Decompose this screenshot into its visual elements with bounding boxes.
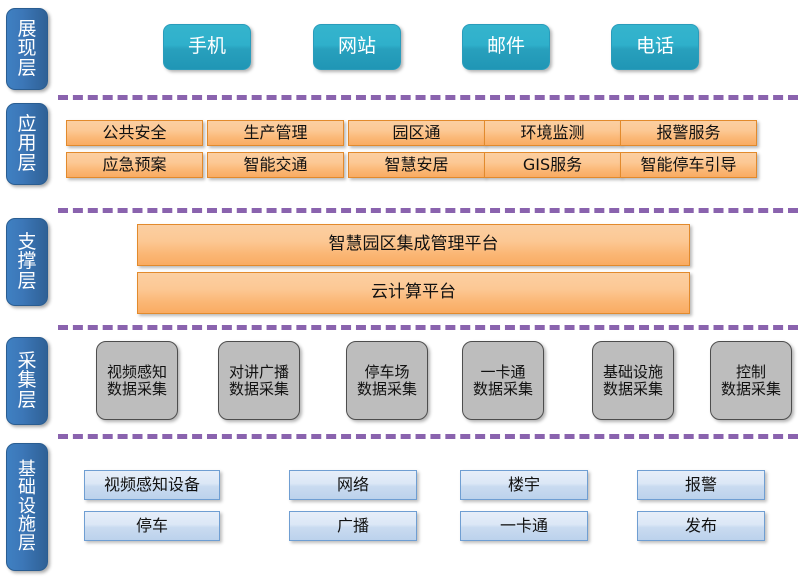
infrastructure-node-all-in-one-card[interactable]: 一卡通 (460, 511, 588, 541)
layer-label-support: 支 撑 层 (6, 218, 48, 306)
infrastructure-node-building[interactable]: 楼宇 (460, 470, 588, 500)
application-node-gis-service[interactable]: GIS服务 (484, 152, 621, 178)
collection-node-line1: 一卡通 (480, 364, 525, 381)
application-node-smart-living[interactable]: 智慧安居 (348, 152, 485, 178)
divider-presentation-application (58, 95, 798, 100)
collection-node-infrastructure[interactable]: 基础设施 数据采集 (592, 341, 674, 420)
collection-node-line2: 数据采集 (357, 381, 417, 398)
infrastructure-node-alarm[interactable]: 报警 (637, 470, 765, 500)
application-node-public-safety[interactable]: 公共安全 (66, 120, 203, 146)
layer-label-collection: 采 集 层 (6, 337, 48, 425)
layer-label-char: 用 (17, 134, 36, 154)
layer-label-char: 础 (18, 479, 36, 498)
application-node-intelligent-transport[interactable]: 智能交通 (207, 152, 344, 178)
infrastructure-node-parking[interactable]: 停车 (84, 511, 220, 541)
application-node-environment-monitoring[interactable]: 环境监测 (484, 120, 621, 146)
collection-node-all-in-one-card[interactable]: 一卡通 数据采集 (462, 341, 544, 420)
layer-label-char: 集 (17, 371, 36, 391)
collection-node-line2: 数据采集 (229, 381, 289, 398)
application-node-smart-parking-guidance[interactable]: 智能停车引导 (620, 152, 757, 178)
divider-support-collection (58, 325, 798, 330)
layer-label-char: 层 (17, 391, 36, 411)
collection-node-control[interactable]: 控制 数据采集 (710, 341, 792, 420)
architecture-diagram: 展 现 层 应 用 层 支 撑 层 采 集 层 基 础 设 施 层 手机 网站 … (0, 0, 800, 582)
presentation-node-mobile[interactable]: 手机 (163, 24, 251, 70)
application-node-alarm-service[interactable]: 报警服务 (620, 120, 757, 146)
collection-node-line2: 数据采集 (721, 381, 781, 398)
collection-node-line1: 控制 (736, 364, 766, 381)
collection-node-line1: 基础设施 (603, 364, 663, 381)
presentation-node-phone[interactable]: 电话 (611, 24, 699, 70)
layer-label-application: 应 用 层 (6, 103, 48, 185)
collection-node-intercom-broadcast[interactable]: 对讲广播 数据采集 (218, 341, 300, 420)
layer-label-char: 层 (17, 272, 36, 292)
collection-node-line2: 数据采集 (107, 381, 167, 398)
layer-label-char: 层 (17, 59, 36, 79)
layer-label-char: 层 (17, 154, 36, 174)
layer-label-char: 层 (18, 535, 36, 554)
layer-label-infrastructure: 基 础 设 施 层 (6, 443, 48, 571)
support-node-integrated-management-platform[interactable]: 智慧园区集成管理平台 (137, 224, 690, 266)
presentation-node-email[interactable]: 邮件 (462, 24, 550, 70)
collection-node-line2: 数据采集 (603, 381, 663, 398)
collection-node-line1: 视频感知 (107, 364, 167, 381)
application-node-production-management[interactable]: 生产管理 (207, 120, 344, 146)
collection-node-line2: 数据采集 (473, 381, 533, 398)
infrastructure-node-video-perception-device[interactable]: 视频感知设备 (84, 470, 220, 500)
application-node-park-pass[interactable]: 园区通 (348, 120, 485, 146)
infrastructure-node-broadcast[interactable]: 广播 (289, 511, 417, 541)
support-node-cloud-computing-platform[interactable]: 云计算平台 (137, 272, 690, 314)
divider-application-support (58, 208, 798, 213)
layer-label-char: 现 (17, 39, 36, 59)
collection-node-line1: 停车场 (364, 364, 409, 381)
collection-node-line1: 对讲广播 (229, 364, 289, 381)
layer-label-presentation: 展 现 层 (6, 8, 48, 90)
collection-node-video-perception[interactable]: 视频感知 数据采集 (96, 341, 178, 420)
collection-node-parking-lot[interactable]: 停车场 数据采集 (346, 341, 428, 420)
presentation-node-website[interactable]: 网站 (313, 24, 401, 70)
infrastructure-node-network[interactable]: 网络 (289, 470, 417, 500)
infrastructure-node-publish[interactable]: 发布 (637, 511, 765, 541)
application-node-emergency-plan[interactable]: 应急预案 (66, 152, 203, 178)
layer-label-char: 撑 (17, 252, 36, 272)
divider-collection-infrastructure (58, 434, 798, 439)
